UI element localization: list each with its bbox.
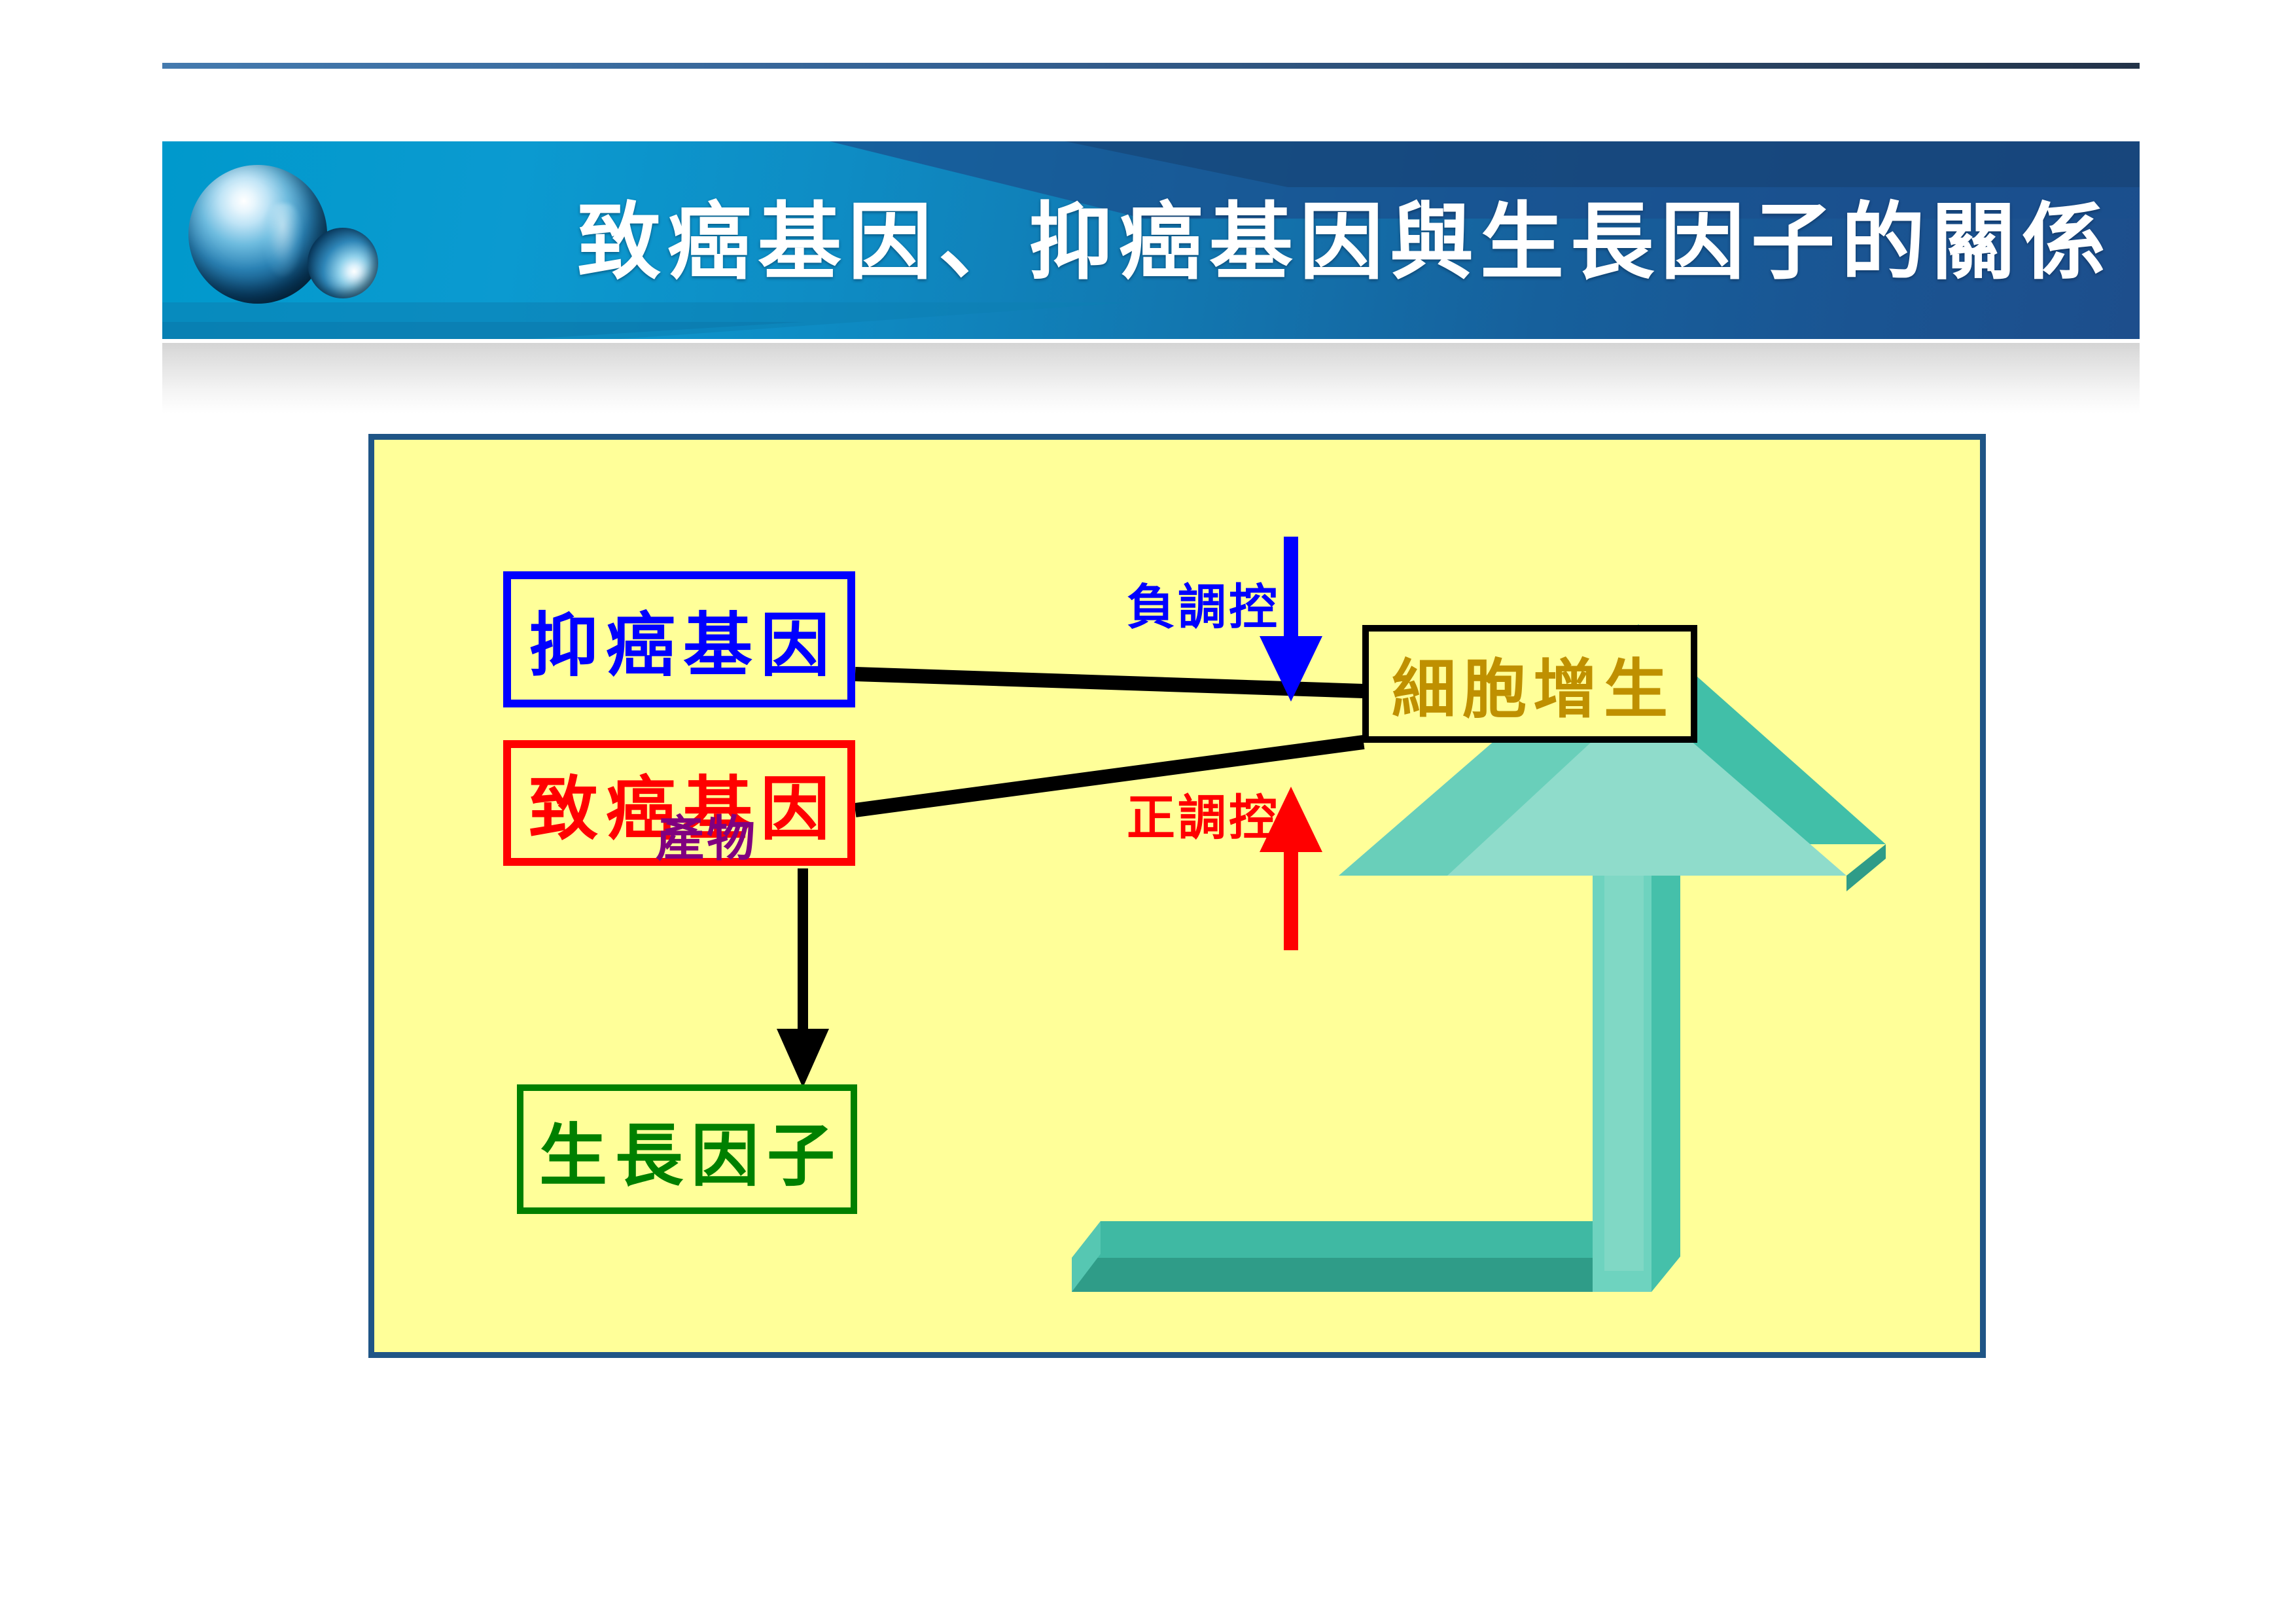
sphere-icon [188,165,327,304]
down-arrow-black-icon [777,868,829,1088]
node-growth-factor[interactable]: 生長因子 [517,1084,857,1214]
node-label-cell-proliferation: 細胞增生 [1385,637,1674,730]
header-reflection [162,343,2140,414]
edge-label-negative-regulation: 負調控 [1127,568,1280,638]
header-banner: 致癌基因、抑癌基因與生長因子的關係 [162,63,2140,351]
node-label-growth-factor: 生長因子 [531,1100,843,1199]
small-sphere-icon [308,228,378,298]
diagram-panel: 抑癌基因 致癌基因 生長因子 細胞增生 負調控 正調控 產物 [368,434,1986,1358]
edge-label-product: 產物 [656,800,758,870]
header-gap [162,132,2140,141]
page-title: 致癌基因、抑癌基因與生長因子的關係 [424,198,2112,288]
node-cell-proliferation[interactable]: 細胞增生 [1362,625,1697,743]
header-title-bar: 致癌基因、抑癌基因與生長因子的關係 [162,141,2140,339]
node-tumor-suppressor[interactable]: 抑癌基因 [503,571,855,707]
header-top-bar [162,63,2140,132]
node-label-tumor-suppressor: 抑癌基因 [521,589,838,690]
edge-label-positive-regulation: 正調控 [1127,779,1280,849]
